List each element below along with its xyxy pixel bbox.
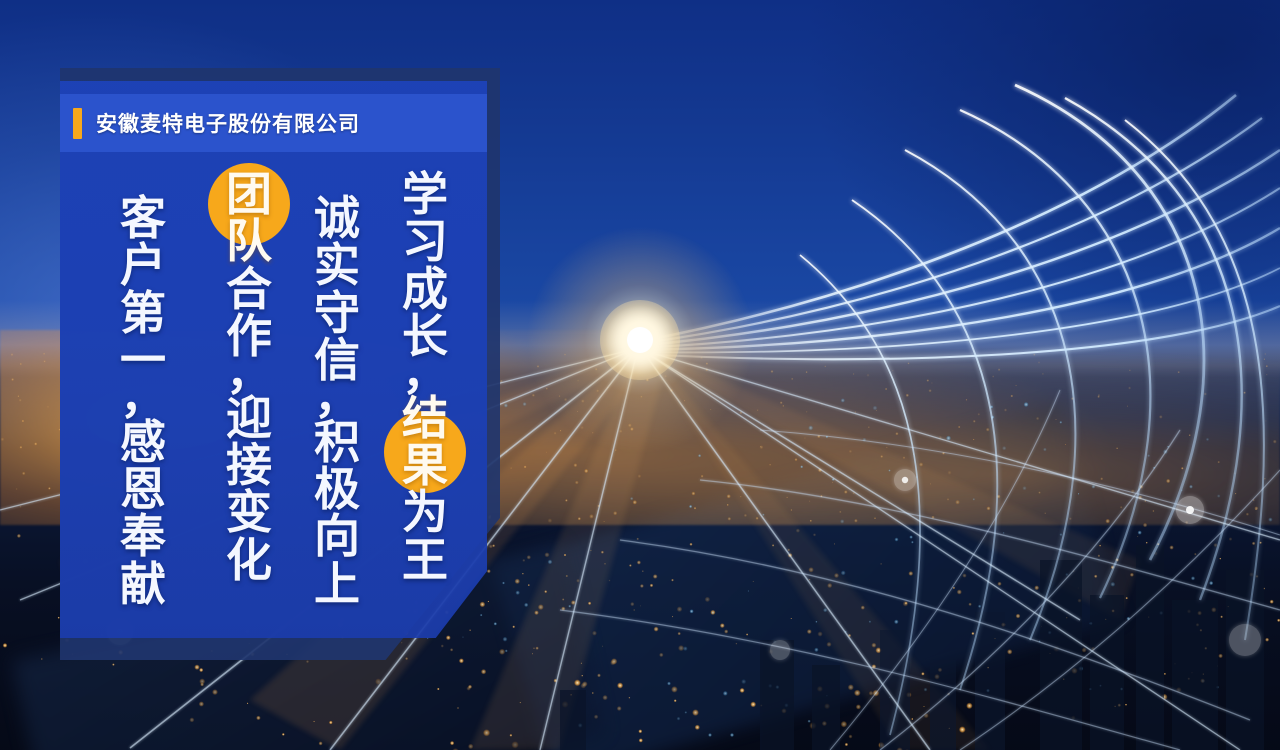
slogan-column-2: 团队合作，迎接变化 [205, 171, 293, 638]
slogan-char: ， [309, 385, 365, 419]
slogan-char: 上 [309, 561, 365, 608]
slogan-chars-1: 客户第一，感恩奉献 [115, 171, 171, 608]
slogan-char: 献 [115, 561, 171, 608]
slogan-column-4: 学习成长，结果为王 [381, 171, 469, 638]
slogan-char: 守 [309, 290, 365, 337]
slogan-char: 迎 [221, 395, 277, 442]
slogan-char: 第 [115, 290, 171, 337]
slogan-char: 学 [397, 171, 453, 218]
card-title-row: 安徽麦特电子股份有限公司 [60, 94, 487, 152]
slogan-column-3: 诚实守信，积极向上 [293, 171, 381, 638]
slogan-char: ， [221, 361, 277, 395]
slogan-char: 为 [397, 489, 453, 536]
slogan-char: 变 [221, 489, 277, 536]
slogan-char: 感 [115, 419, 171, 466]
slogan-char: 接 [221, 442, 277, 489]
slogan-char: 习 [397, 218, 453, 265]
slogan-char: 极 [309, 466, 365, 513]
slogan-char: 向 [309, 513, 365, 560]
slogan-char: 合 [221, 266, 277, 313]
slogan-char: 成 [397, 266, 453, 313]
slogan-char: 客 [115, 195, 171, 242]
slogan-char: 实 [309, 242, 365, 289]
slogan-chars-4: 学习成长，结果为王 [397, 171, 453, 584]
accent-bar-icon [73, 108, 82, 139]
company-name-title: 安徽麦特电子股份有限公司 [96, 108, 360, 138]
slogan-char: ， [115, 385, 171, 419]
slogan-char: 奉 [115, 513, 171, 560]
slogan-char: 团 [221, 171, 277, 218]
slogan-column-1: 客户第一，感恩奉献 [99, 171, 187, 638]
slogan-char: 队 [221, 218, 277, 265]
slogan-char: 结 [397, 395, 453, 442]
slogan-char: 恩 [115, 466, 171, 513]
slogan-char: 诚 [309, 195, 365, 242]
slogan-chars-3: 诚实守信，积极向上 [309, 171, 365, 608]
slogan-chars-2: 团队合作，迎接变化 [221, 171, 277, 584]
slogan-char: ， [397, 361, 453, 395]
company-values-card: 安徽麦特电子股份有限公司 学习成长，结果为王 诚实守信，积极向上 团队合作，迎接… [60, 81, 487, 638]
slogan-char: 户 [115, 242, 171, 289]
poster-canvas: 安徽麦特电子股份有限公司 学习成长，结果为王 诚实守信，积极向上 团队合作，迎接… [0, 0, 1280, 750]
slogan-char: 积 [309, 419, 365, 466]
slogan-char: 王 [397, 537, 453, 584]
slogan-char: 化 [221, 537, 277, 584]
slogan-char: 果 [397, 442, 453, 489]
slogan-columns: 学习成长，结果为王 诚实守信，积极向上 团队合作，迎接变化 客户第一，感恩奉献 [60, 171, 487, 638]
